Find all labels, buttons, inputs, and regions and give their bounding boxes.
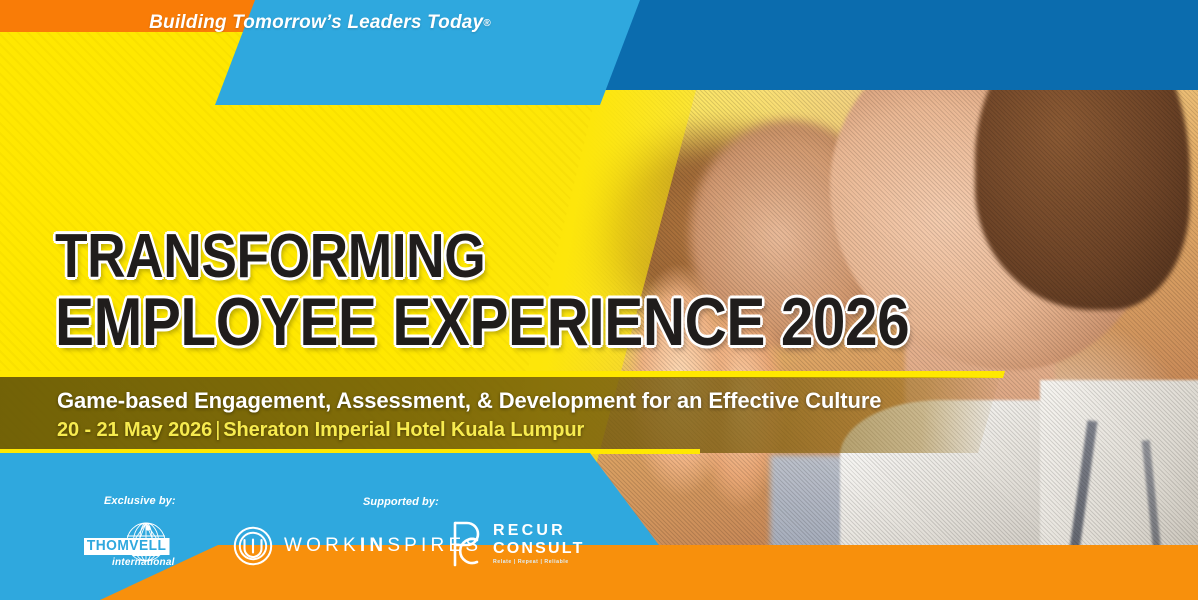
subtitle-bar-top-rule [0, 371, 1005, 378]
top-dark-blue-band [600, 0, 1198, 90]
exclusive-by-label: Exclusive by: [104, 495, 176, 507]
supported-by-label: Supported by: [363, 496, 439, 508]
event-title-line-2: EMPLOYEE EXPERIENCE 2026 [55, 291, 909, 354]
brand-tagline-text: Building Tomorrow’s Leaders Today [149, 12, 483, 34]
recur-consult-logo[interactable]: RECUR CONSULT Relate | Repeat | Reliable [447, 518, 585, 570]
recur-monogram-icon [447, 519, 487, 569]
workinspires-word-part2: IN [360, 535, 387, 556]
event-venue: Sheraton Imperial Hotel Kuala Lumpur [223, 419, 584, 441]
globe-highlight [145, 525, 150, 530]
event-banner: Building Tomorrow’s Leaders Today® TRANS… [0, 0, 1198, 600]
date-venue-separator: | [212, 419, 223, 441]
registered-trademark-icon: ® [483, 18, 491, 29]
recur-line-1: RECUR [493, 523, 585, 539]
thomvell-logo[interactable]: THOMVELL international [84, 522, 189, 574]
event-date-venue: 20 - 21 May 2026|Sheraton Imperial Hotel… [57, 419, 584, 442]
brand-tagline: Building Tomorrow’s Leaders Today® [0, 0, 640, 46]
workinspires-mark-icon [233, 526, 273, 566]
event-title-line-1: TRANSFORMING [55, 228, 909, 285]
thomvell-wordmark: THOMVELL [84, 538, 169, 555]
event-title: TRANSFORMING EMPLOYEE EXPERIENCE 2026 [55, 228, 1048, 354]
recur-consult-wordmark: RECUR CONSULT Relate | Repeat | Reliable [493, 523, 585, 565]
thomvell-descriptor: international [112, 557, 175, 568]
workinspires-word-part1: WORK [284, 535, 360, 556]
event-date: 20 - 21 May 2026 [57, 419, 212, 441]
recur-tagline: Relate | Repeat | Reliable [493, 560, 585, 565]
workinspires-logo[interactable]: WORKINSPIRES [233, 524, 482, 568]
event-subtitle: Game-based Engagement, Assessment, & Dev… [57, 388, 881, 414]
recur-line-2: CONSULT [493, 541, 585, 557]
